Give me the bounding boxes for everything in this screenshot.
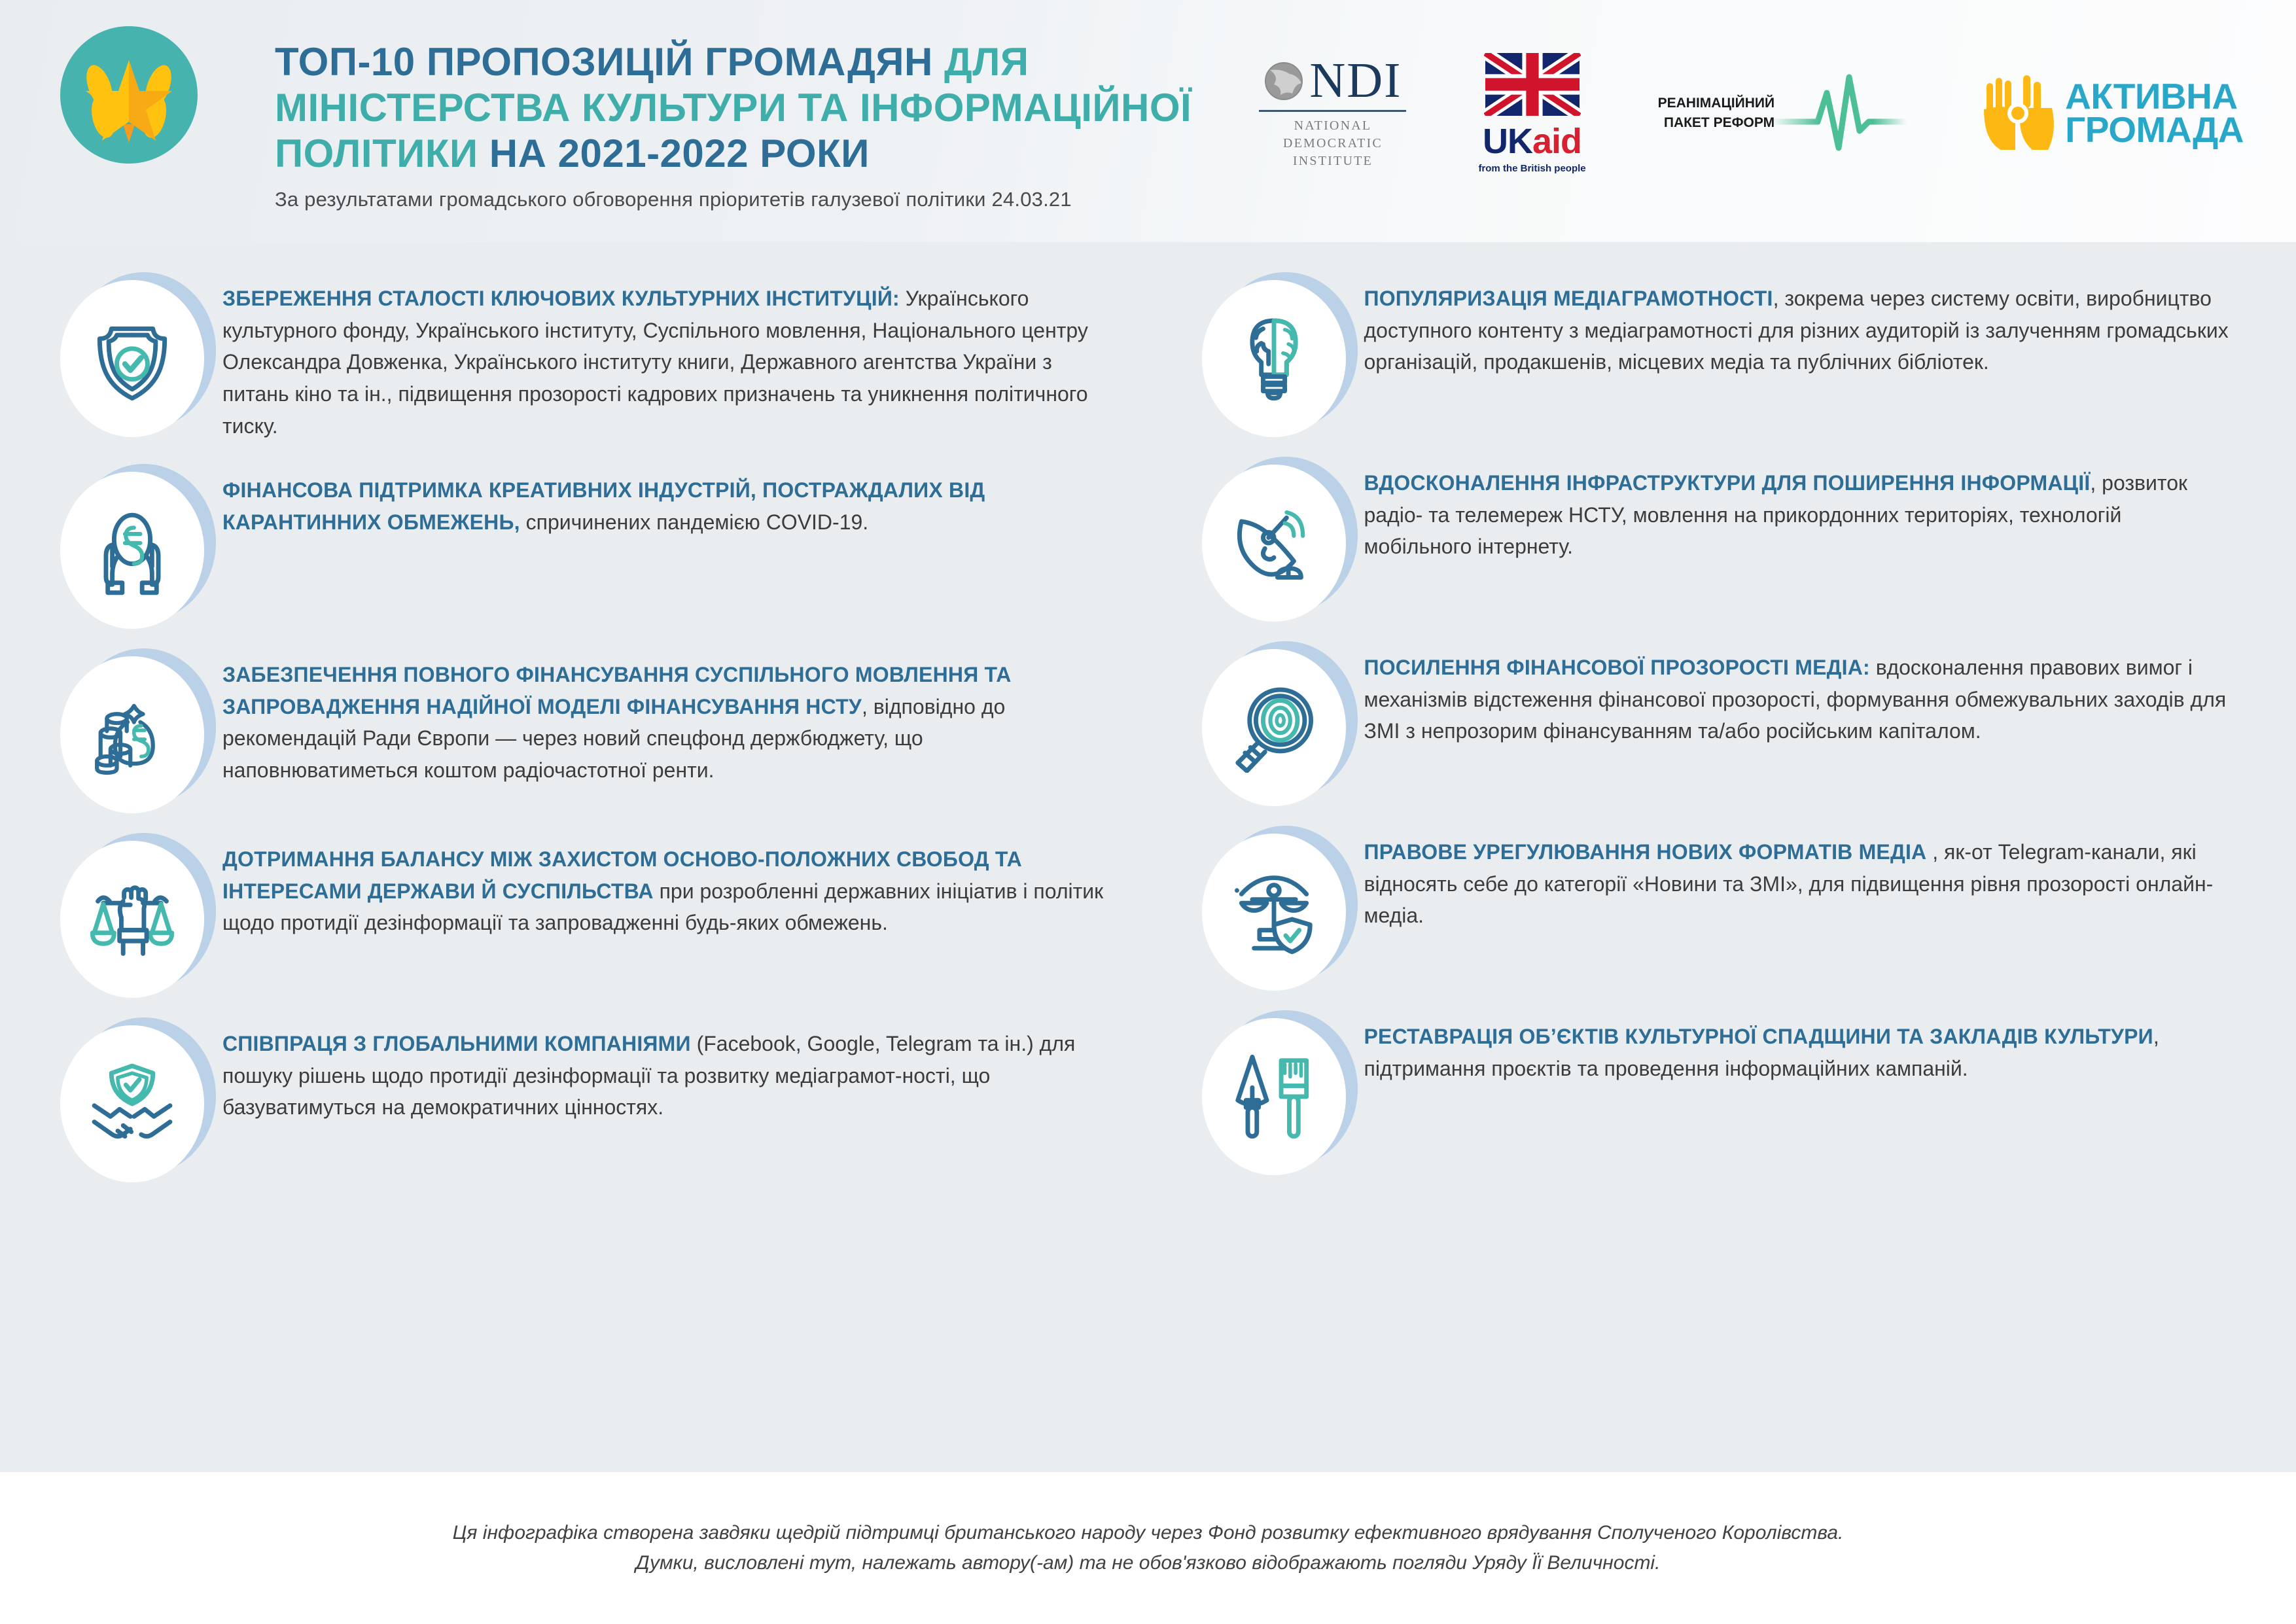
rpr-line-1: РЕАНІМАЦІЙНИЙ bbox=[1658, 94, 1775, 113]
rpr-logo: РЕАНІМАЦІЙНИЙ ПАКЕТ РЕФОРМ bbox=[1658, 71, 1908, 156]
icon-holder bbox=[46, 646, 222, 811]
footer-line-1: Ця інфографіка створена завдяки щедрій п… bbox=[453, 1522, 1844, 1544]
icon-bubble bbox=[1202, 834, 1346, 991]
icon-holder bbox=[1188, 1008, 1364, 1173]
shield-check-icon bbox=[87, 313, 177, 404]
ndi-subtitle-line-1: NATIONAL bbox=[1283, 117, 1383, 135]
proposal-text: ВДОСКОНАЛЕННЯ ІНФРАСТРУКТУРИ ДЛЯ ПОШИРЕН… bbox=[1364, 450, 2231, 563]
rpr-line-2: ПАКЕТ РЕФОРМ bbox=[1658, 113, 1775, 133]
proposal-item: ВДОСКОНАЛЕННЯ ІНФРАСТРУКТУРИ ДЛЯ ПОШИРЕН… bbox=[1188, 450, 2231, 619]
icon-bubble bbox=[1202, 465, 1346, 622]
proposal-highlight: ПОСИЛЕННЯ ФІНАНСОВОЇ ПРОЗОРОСТІ МЕДІА: bbox=[1364, 656, 1870, 679]
proposal-text: ФІНАНСОВА ПІДТРИМКА КРЕАТИВНИХ ІНДУСТРІЙ… bbox=[222, 457, 1109, 538]
ukaid-uk: UK bbox=[1483, 122, 1532, 161]
proposal-text: ПРАВОВЕ УРЕГУЛЮВАННЯ НОВИХ ФОРМАТІВ МЕДІ… bbox=[1364, 819, 2231, 932]
footer-line-2: Думки, висловлені тут, належать автору(-… bbox=[636, 1552, 1661, 1574]
ndi-subtitle: NATIONAL DEMOCRATIC INSTITUTE bbox=[1283, 117, 1383, 170]
proposal-highlight: ЗБЕРЕЖЕННЯ СТАЛОСТІ КЛЮЧОВИХ КУЛЬТУРНИХ … bbox=[222, 287, 900, 310]
ukaid-tagline: from the British people bbox=[1478, 163, 1585, 174]
money-bag-coins-icon bbox=[87, 690, 177, 780]
proposal-text: ЗАБЕЗПЕЧЕННЯ ПОВНОГО ФІНАНСУВАННЯ СУСПІЛ… bbox=[222, 642, 1109, 786]
proposal-highlight: ПРАВОВЕ УРЕГУЛЮВАННЯ НОВИХ ФОРМАТІВ МЕДІ… bbox=[1364, 840, 1927, 864]
icon-holder bbox=[1188, 454, 1364, 619]
header: ТОП-10 ПРОПОЗИЦІЙ ГРОМАДЯН ДЛЯ МІНІСТЕРС… bbox=[0, 0, 2296, 242]
partner-logos: NDI NATIONAL DEMOCRATIC INSTITUTE bbox=[1259, 51, 2244, 175]
title-line-3-part-a: ПОЛІТИКИ bbox=[275, 132, 489, 175]
icon-holder bbox=[1188, 639, 1364, 803]
satellite-dish-icon bbox=[1229, 498, 1319, 588]
heartbeat-icon bbox=[1771, 71, 1908, 156]
handshake-shield-icon bbox=[87, 1059, 177, 1149]
scales-fist-icon bbox=[87, 874, 177, 964]
title-line-1-part-a: ТОП-10 ПРОПОЗИЦІЙ ГРОМАДЯН bbox=[275, 40, 944, 84]
ndi-letters: NDI bbox=[1309, 57, 1402, 104]
title-line-1: ТОП-10 ПРОПОЗИЦІЙ ГРОМАДЯН ДЛЯ bbox=[275, 39, 1374, 85]
proposal-item: ПРАВОВЕ УРЕГУЛЮВАННЯ НОВИХ ФОРМАТІВ МЕДІ… bbox=[1188, 819, 2231, 988]
right-column: ПОПУЛЯРИЗАЦІЯ МЕДІАГРАМОТНОСТІ, зокрема … bbox=[1148, 262, 2251, 1472]
title-block: ТОП-10 ПРОПОЗИЦІЙ ГРОМАДЯН ДЛЯ МІНІСТЕРС… bbox=[275, 39, 1374, 211]
trowel-brush-icon bbox=[1229, 1051, 1319, 1142]
proposal-body: спричинених пандемією COVID-19. bbox=[520, 510, 868, 534]
infographic-page: ТОП-10 ПРОПОЗИЦІЙ ГРОМАДЯН ДЛЯ МІНІСТЕРС… bbox=[0, 0, 2296, 1624]
proposal-text: ПОСИЛЕННЯ ФІНАНСОВОЇ ПРОЗОРОСТІ МЕДІА: в… bbox=[1364, 635, 2231, 747]
icon-holder bbox=[1188, 823, 1364, 988]
icon-holder bbox=[46, 461, 222, 626]
title-line-2: МІНІСТЕРСТВА КУЛЬТУРИ ТА ІНФОРМАЦІЙНОЇ bbox=[275, 85, 1374, 131]
lightbulb-brain-icon bbox=[1229, 313, 1319, 404]
proposal-item: ФІНАНСОВА ПІДТРИМКА КРЕАТИВНИХ ІНДУСТРІЙ… bbox=[46, 457, 1109, 626]
proposal-highlight: РЕСТАВРАЦІЯ ОБ’ЄКТІВ КУЛЬТУРНОЇ СПАДЩИНИ… bbox=[1364, 1025, 2153, 1048]
raised-hands-icon bbox=[1980, 71, 2056, 155]
icon-bubble bbox=[60, 656, 204, 813]
icon-bubble bbox=[1202, 1018, 1346, 1175]
proposal-text: РЕСТАВРАЦІЯ ОБ’ЄКТІВ КУЛЬТУРНОЇ СПАДЩИНИ… bbox=[1364, 1004, 2231, 1084]
ndi-subtitle-line-2: DEMOCRATIC bbox=[1283, 135, 1383, 152]
proposal-text: СПІВПРАЦЯ З ГЛОБАЛЬНИМИ КОМПАНІЯМИ (Face… bbox=[222, 1011, 1109, 1123]
proposal-item: РЕСТАВРАЦІЯ ОБ’ЄКТІВ КУЛЬТУРНОЇ СПАДЩИНИ… bbox=[1188, 1004, 2231, 1173]
proposal-highlight: ВДОСКОНАЛЕННЯ ІНФРАСТРУКТУРИ ДЛЯ ПОШИРЕН… bbox=[1364, 471, 2091, 495]
icon-bubble bbox=[1202, 649, 1346, 806]
proposal-highlight: СПІВПРАЦЯ З ГЛОБАЛЬНИМИ КОМПАНІЯМИ bbox=[222, 1032, 691, 1055]
proposal-item: ПОПУЛЯРИЗАЦІЯ МЕДІАГРАМОТНОСТІ, зокрема … bbox=[1188, 266, 2231, 434]
ukaid-wordmark: UKaid bbox=[1483, 121, 1581, 162]
proposal-text: ЗБЕРЕЖЕННЯ СТАЛОСТІ КЛЮЧОВИХ КУЛЬТУРНИХ … bbox=[222, 266, 1109, 442]
icon-bubble bbox=[60, 1025, 204, 1182]
icon-bubble bbox=[60, 280, 204, 437]
ukaid-aid: aid bbox=[1532, 122, 1581, 161]
icon-holder bbox=[46, 1015, 222, 1180]
ukaid-logo: UKaid from the British people bbox=[1478, 53, 1585, 174]
aktyvna-hromada-line-2: ГРОМАДА bbox=[2065, 113, 2244, 147]
proposal-text: ДОТРИМАННЯ БАЛАНСУ МІЖ ЗАХИСТОМ ОСНОВО-П… bbox=[222, 826, 1109, 939]
scales-shield-icon bbox=[1229, 867, 1319, 957]
left-column: ЗБЕРЕЖЕННЯ СТАЛОСТІ КЛЮЧОВИХ КУЛЬТУРНИХ … bbox=[46, 262, 1148, 1472]
proposal-text: ПОПУЛЯРИЗАЦІЯ МЕДІАГРАМОТНОСТІ, зокрема … bbox=[1364, 266, 2231, 378]
laurel-star-glyph bbox=[60, 26, 198, 164]
title-line-3: ПОЛІТИКИ НА 2021-2022 РОКИ bbox=[275, 131, 1374, 177]
ndi-divider bbox=[1259, 110, 1406, 112]
proposal-highlight: ПОПУЛЯРИЗАЦІЯ МЕДІАГРАМОТНОСТІ bbox=[1364, 287, 1773, 310]
globe-icon bbox=[1263, 57, 1304, 105]
footer: Ця інфографіка створена завдяки щедрій п… bbox=[0, 1472, 2296, 1624]
union-jack-icon bbox=[1484, 53, 1581, 116]
proposal-item: ПОСИЛЕННЯ ФІНАНСОВОЇ ПРОЗОРОСТІ МЕДІА: в… bbox=[1188, 635, 2231, 803]
title-line-1-part-b: ДЛЯ bbox=[944, 40, 1029, 84]
header-subtitle: За результатами громадського обговорення… bbox=[275, 188, 1374, 211]
proposal-item: ДОТРИМАННЯ БАЛАНСУ МІЖ ЗАХИСТОМ ОСНОВО-П… bbox=[46, 826, 1109, 995]
proposal-item: ЗБЕРЕЖЕННЯ СТАЛОСТІ КЛЮЧОВИХ КУЛЬТУРНИХ … bbox=[46, 266, 1109, 442]
icon-holder bbox=[1188, 270, 1364, 434]
ndi-subtitle-line-3: INSTITUTE bbox=[1283, 152, 1383, 170]
icon-holder bbox=[46, 270, 222, 434]
icon-bubble bbox=[60, 472, 204, 629]
ndi-logo: NDI NATIONAL DEMOCRATIC INSTITUTE bbox=[1259, 57, 1406, 170]
hands-hryvnia-icon bbox=[87, 505, 177, 595]
title-line-3-part-b: НА 2021-2022 РОКИ bbox=[489, 132, 870, 175]
laurel-star-logo bbox=[60, 26, 198, 164]
proposals-grid: ЗБЕРЕЖЕННЯ СТАЛОСТІ КЛЮЧОВИХ КУЛЬТУРНИХ … bbox=[0, 242, 2296, 1472]
proposal-item: ЗАБЕЗПЕЧЕННЯ ПОВНОГО ФІНАНСУВАННЯ СУСПІЛ… bbox=[46, 642, 1109, 811]
icon-bubble bbox=[60, 841, 204, 998]
aktyvna-hromada-logo: АКТИВНА ГРОМАДА bbox=[1980, 71, 2244, 155]
icon-bubble bbox=[1202, 280, 1346, 437]
icon-holder bbox=[46, 830, 222, 995]
proposal-item: СПІВПРАЦЯ З ГЛОБАЛЬНИМИ КОМПАНІЯМИ (Face… bbox=[46, 1011, 1109, 1180]
aktyvna-hromada-line-1: АКТИВНА bbox=[2065, 80, 2244, 113]
magnifier-target-icon bbox=[1229, 682, 1319, 773]
